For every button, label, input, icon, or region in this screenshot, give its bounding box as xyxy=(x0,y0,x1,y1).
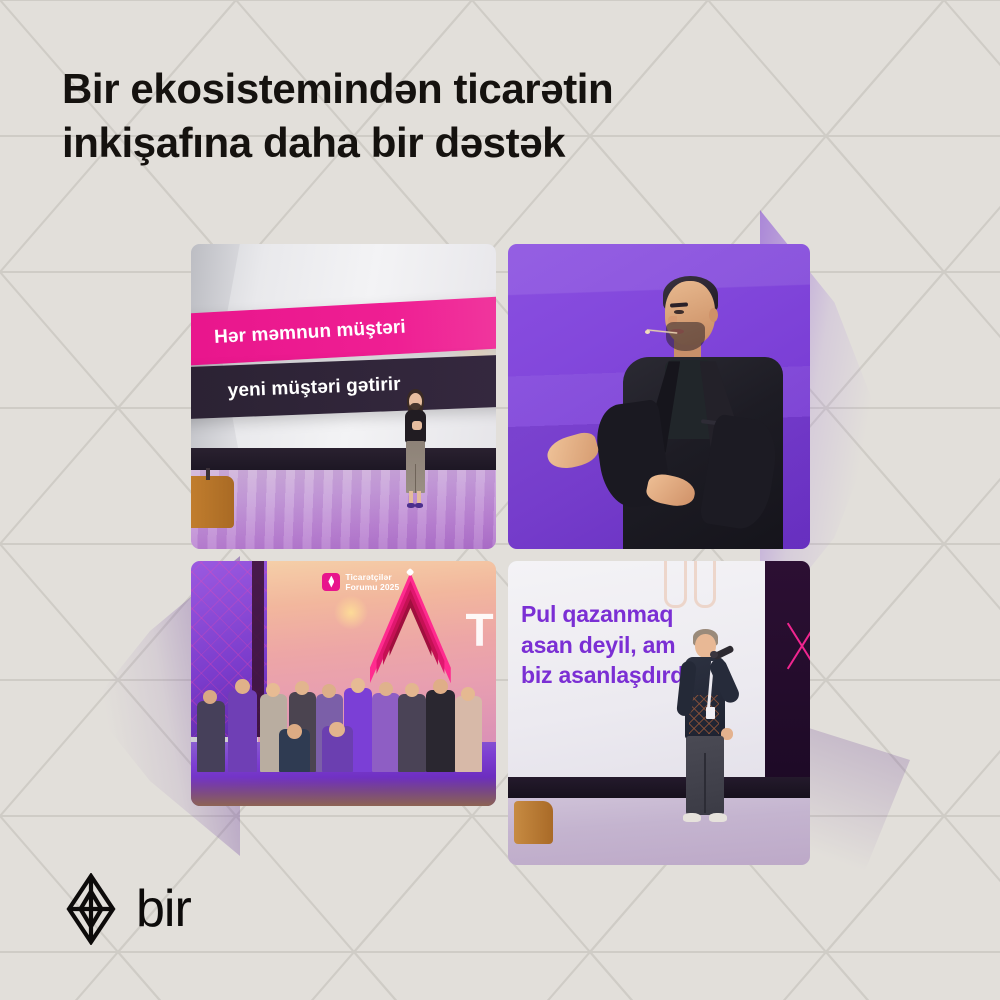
man-ear xyxy=(709,308,718,322)
forum-logo-diamond-icon xyxy=(322,573,340,591)
page-title: Bir ekosistemindən ticarətin inkişafına … xyxy=(62,62,802,170)
podium-microphone xyxy=(206,468,210,480)
headline-line-2: inkişafına daha bir dəstək xyxy=(62,116,802,170)
slide-banner-pink-text: Hər məmnun müştəri xyxy=(213,317,406,349)
brand-logo: bir xyxy=(66,873,191,945)
pink-x-graphic xyxy=(796,619,806,673)
headline-line-1: Bir ekosistemindən ticarətin xyxy=(62,62,802,116)
photo-male-speaker-purple-backdrop xyxy=(508,244,810,549)
mic-speaker-jeans-split xyxy=(704,753,706,814)
stage-back-wall xyxy=(191,448,496,469)
photo-group-photo-forum-stage: T Ticarətçilər Forumu 2025 xyxy=(191,561,496,806)
stage-floor-2 xyxy=(508,798,810,865)
slide-banner-dark-text: yeni müştəri gətirir xyxy=(227,374,401,403)
screen-letter-T: T xyxy=(466,607,494,653)
headset-microphone-tip xyxy=(645,330,650,334)
quote-line-1: Pul qazanmaq xyxy=(521,599,729,629)
mic-speaker-shoe-left xyxy=(683,813,701,822)
wooden-podium-2 xyxy=(514,801,553,844)
handheld-microphone-head xyxy=(710,651,717,658)
screen-sun-glow xyxy=(334,595,367,629)
mic-speaker-shoe-right xyxy=(709,813,727,822)
photo-stage-presentation-woman-speaker: Hər məmnun müştəri yeni müştəri gətirir xyxy=(191,244,496,549)
stage-back-wall-2 xyxy=(508,777,810,798)
forum-logo: Ticarətçilər Forumu 2025 xyxy=(322,572,399,592)
photo-speaker-with-microphone-quote-slide: Pul qazanmaq asan deyil, am biz asanlaşd… xyxy=(508,561,810,865)
mic-speaker-badge xyxy=(706,707,715,719)
group-of-people xyxy=(191,664,496,772)
forum-logo-line-1: Ticarətçilər xyxy=(345,572,399,582)
brand-wordmark: bir xyxy=(136,883,191,935)
photo-collage: Hər məmnun müştəri yeni müştəri gətirir xyxy=(191,244,810,865)
stage-floor xyxy=(191,470,496,549)
bir-diamond-mark-icon xyxy=(66,873,116,945)
speaker-shoe-left xyxy=(407,503,415,508)
man-beard xyxy=(666,322,705,351)
speaker-arm xyxy=(412,421,422,430)
side-dark-screen xyxy=(765,561,810,786)
forum-logo-line-2: Forumu 2025 xyxy=(345,582,399,592)
poster-canvas: Bir ekosistemindən ticarətin inkişafına … xyxy=(0,0,1000,1000)
wooden-podium xyxy=(191,476,234,528)
speaker-skirt-slit xyxy=(415,464,417,493)
forum-logo-text: Ticarətçilər Forumu 2025 xyxy=(345,572,399,592)
